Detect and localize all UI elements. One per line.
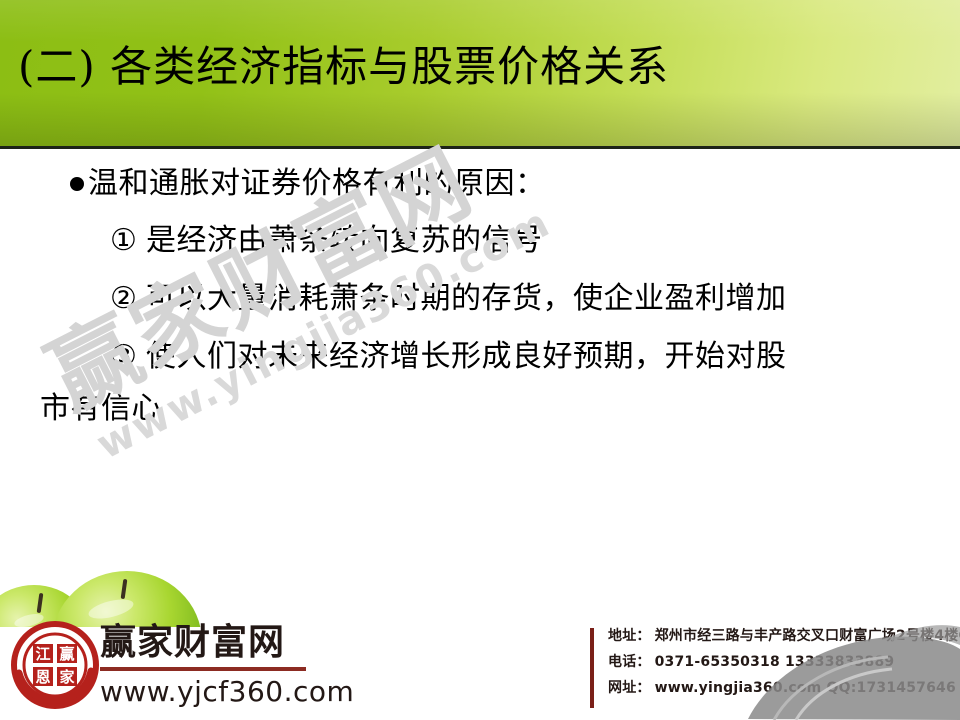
body-line-text: 可以大量消耗萧条时期的存货，使企业盈利增加: [146, 281, 787, 316]
slide-canvas: (二) 各类经济指标与股票价格关系 温和通胀对证券价格有利的原因： ①是经济由萧…: [0, 0, 960, 720]
contact-web-label: 网址：: [608, 680, 651, 696]
contact-web-value: www.yingjia360.com QQ:1731457646: [655, 680, 956, 696]
slide-footer: 江 赢 恩 家 赢家财富网 www.yjcf360.com 地址：郑州市经三路与…: [0, 549, 960, 720]
body-line-item-2: ②可以大量消耗萧条时期的存货，使企业盈利增加: [110, 279, 787, 319]
slide-header-banner: (二) 各类经济指标与股票价格关系: [0, 0, 960, 149]
brand-wordmark: 赢家财富网 www.yjcf360.com: [100, 623, 320, 708]
contact-address-value: 郑州市经三路与丰产路交叉口财富广场2号楼4楼C户: [655, 628, 960, 644]
body-line-bullet: 温和通胀对证券价格有利的原因：: [70, 164, 546, 204]
body-line-text: 使人们对未来经济增长形成良好预期，开始对股: [146, 339, 787, 374]
slide-body: 温和通胀对证券价格有利的原因： ①是经济由萧条转向复苏的信号 ②可以大量消耗萧条…: [0, 149, 960, 549]
body-line-text: 是经济由萧条转向复苏的信号: [146, 223, 543, 258]
svg-text:家: 家: [59, 668, 74, 686]
page-title: (二) 各类经济指标与股票价格关系: [18, 40, 669, 94]
contact-info-block: 地址：郑州市经三路与丰产路交叉口财富广场2号楼4楼C户 电话：0371-6535…: [608, 623, 960, 701]
bullet-dot-icon: [70, 177, 84, 191]
list-marker-2: ②: [110, 279, 146, 319]
svg-text:恩: 恩: [35, 668, 50, 686]
body-line-item-1: ①是经济由萧条转向复苏的信号: [110, 221, 543, 261]
brand-underline: [100, 667, 306, 671]
contact-address-line: 地址：郑州市经三路与丰产路交叉口财富广场2号楼4楼C户: [608, 623, 960, 649]
brand-url-text: www.yjcf360.com: [100, 676, 320, 708]
list-marker-3: ③: [110, 337, 146, 377]
contact-address-label: 地址：: [608, 628, 651, 644]
contact-phone-label: 电话：: [608, 654, 651, 670]
contact-web-line: 网址：www.yingjia360.com QQ:1731457646: [608, 675, 960, 701]
seal-logo-icon: 江 赢 恩 家: [11, 621, 99, 709]
contact-phone-line: 电话：0371-65350318 13333833889: [608, 649, 960, 675]
body-line-item-3-continued: 市有信心: [40, 389, 162, 429]
list-marker-1: ①: [110, 221, 146, 261]
body-line-item-3: ③使人们对未来经济增长形成良好预期，开始对股: [110, 337, 787, 377]
svg-text:赢: 赢: [59, 645, 74, 663]
body-line-text: 温和通胀对证券价格有利的原因：: [88, 166, 546, 201]
brand-name-text: 赢家财富网: [100, 623, 320, 663]
contact-phone-value: 0371-65350318 13333833889: [655, 654, 895, 670]
body-line-text: 市有信心: [40, 391, 162, 426]
contact-accent-bar: [590, 628, 594, 708]
svg-text:江: 江: [35, 645, 50, 663]
